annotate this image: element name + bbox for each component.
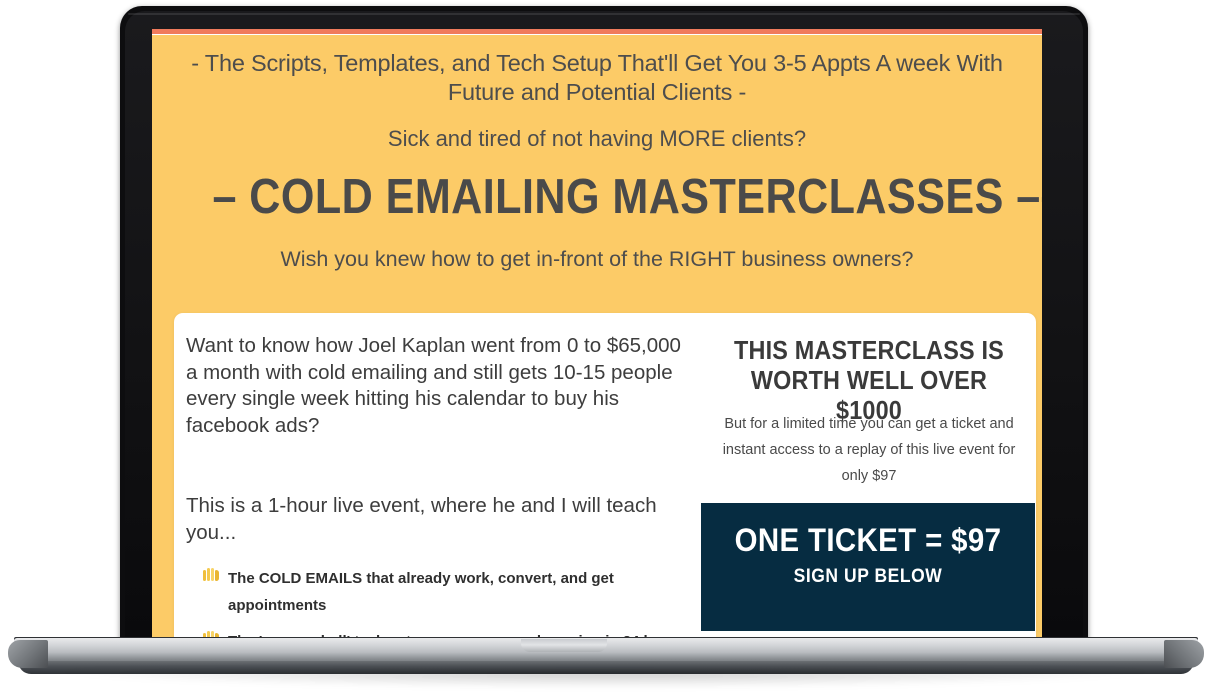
cta-ticket-box[interactable]: ONE TICKET = $97 SIGN UP BELOW: [701, 503, 1035, 631]
laptop-drop-shadow: [60, 670, 1150, 688]
cta-sub-line: SIGN UP BELOW: [714, 565, 1021, 589]
hero-eyebrow-text: - The Scripts, Templates, and Tech Setup…: [170, 49, 1024, 107]
laptop-mockup: - The Scripts, Templates, and Tech Setup…: [0, 0, 1212, 700]
cta-price-line: ONE TICKET = $97: [714, 521, 1021, 559]
fist-bump-emoji-icon: [202, 568, 220, 584]
bullet-text: The COLD EMAILS that already work, conve…: [228, 570, 614, 614]
card-right-column: THIS MASTERCLASS IS WORTH WELL OVER $100…: [714, 325, 1024, 631]
list-item: The COLD EMAILS that already work, conve…: [202, 565, 702, 619]
laptop-screen: - The Scripts, Templates, and Tech Setup…: [152, 29, 1042, 637]
bezel-highlight: [128, 13, 1080, 15]
hero-subheadline-bottom: Wish you knew how to get in-front of the…: [170, 246, 1024, 273]
limited-time-copy: But for a limited time you can get a tic…: [718, 411, 1020, 489]
card-left-column: Want to know how Joel Kaplan went from 0…: [186, 325, 698, 631]
screenshot-canvas: - The Scripts, Templates, and Tech Setup…: [0, 0, 1212, 700]
lead-paragraph-1: Want to know how Joel Kaplan went from 0…: [186, 333, 694, 439]
lead-paragraph-2: This is a 1-hour live event, where he an…: [186, 493, 694, 546]
content-card: Want to know how Joel Kaplan went from 0…: [174, 313, 1036, 637]
laptop-base-foot-left: [8, 640, 48, 668]
benefit-bullet-list: The COLD EMAILS that already work, conve…: [202, 565, 702, 637]
hero-subheadline-top: Sick and tired of not having MORE client…: [170, 125, 1024, 152]
hero-section: - The Scripts, Templates, and Tech Setup…: [152, 35, 1042, 637]
hero-title: – COLD EMAILING MASTERCLASSES ––: [212, 169, 981, 225]
landing-page: - The Scripts, Templates, and Tech Setup…: [152, 29, 1042, 637]
laptop-base-notch: [521, 639, 607, 652]
laptop-base-foot-right: [1164, 640, 1204, 668]
list-item: The 'easy as hell' tech setup so your up…: [202, 628, 702, 637]
